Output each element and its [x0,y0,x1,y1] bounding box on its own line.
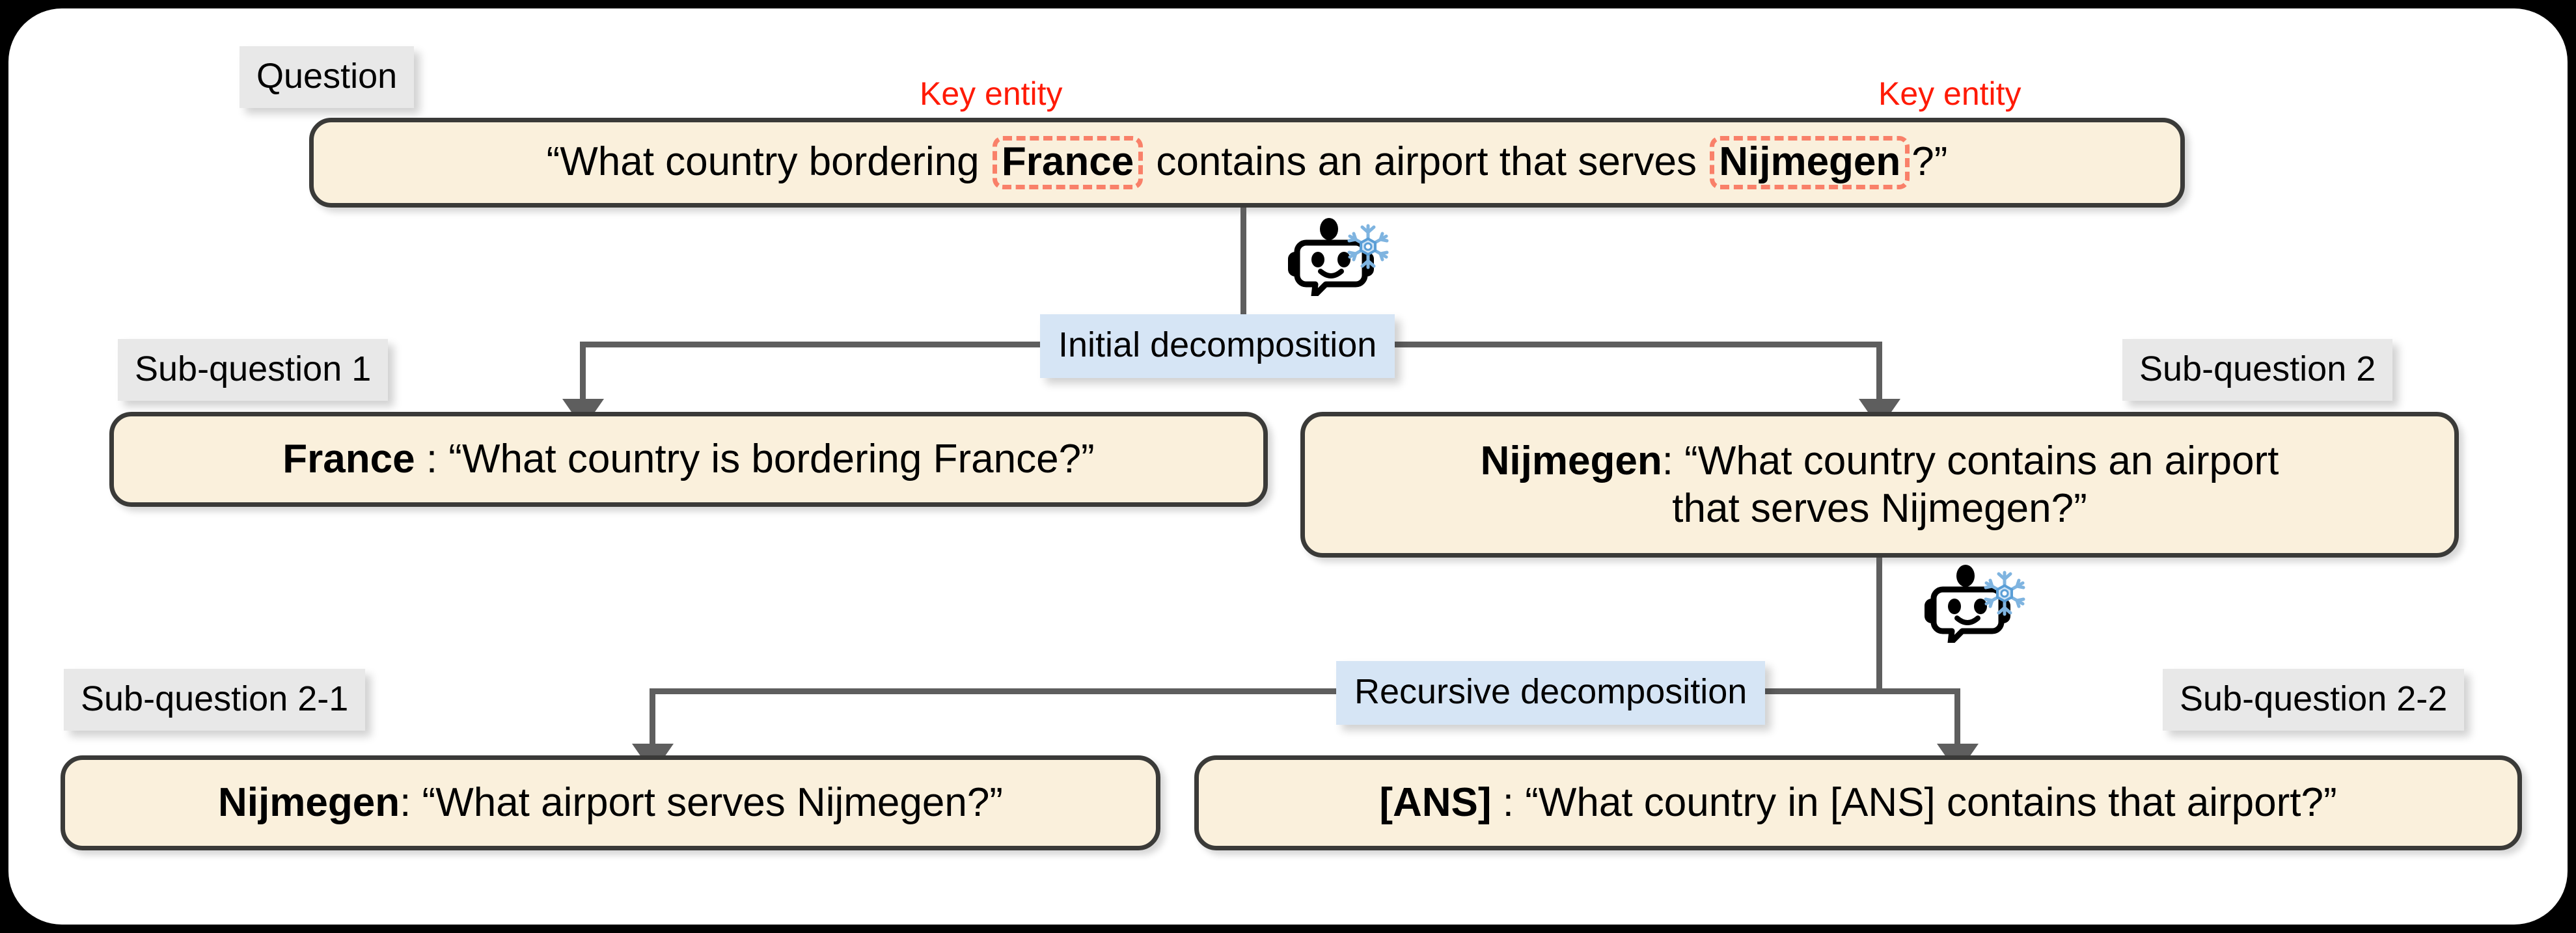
tag-sub-question-2-1: Sub-question 2-1 [64,669,365,731]
connector-row2-right-jog [1876,688,1960,694]
sub-question-2-text: Nijmegen: “What country contains an airp… [1465,437,2295,532]
sub-question-2-2-entity: [ANS] [1379,780,1491,825]
sub-question-2-1-box: Nijmegen: “What airport serves Nijmegen?… [61,755,1160,850]
question-box: “What country bordering France contains … [309,118,2185,208]
sub-question-2-box: Nijmegen: “What country contains an airp… [1300,412,2459,558]
tag-sub-question-2-2: Sub-question 2-2 [2163,669,2464,731]
key-entity-label-left: Key entity [920,77,1063,110]
key-entity-france: France [993,136,1143,189]
sub-question-2-1-entity: Nijmegen [218,780,400,825]
sub-question-2-1-body: : “What airport serves Nijmegen?” [400,780,1003,825]
sub-question-2-line1: : “What country contains an airport [1662,439,2279,483]
key-entity-label-right: Key entity [1878,77,2021,110]
connector-sub2-down [1876,558,1882,690]
question-text: “What country bordering France contains … [531,136,1964,189]
sub-question-1-box: France : “What country is bordering Fran… [109,412,1268,507]
sub-question-1-text: France : “What country is bordering Fran… [267,435,1110,483]
frozen-llm-robot-icon-1 [1285,218,1396,296]
diagram-canvas: Question Key entity Key entity “What cou… [8,8,2568,925]
tag-question: Question [240,46,414,108]
question-middle: contains an airport that serves [1145,139,1708,184]
sub-question-1-body: : “What country is bordering France?” [415,437,1095,481]
frozen-llm-robot-icon-2 [1922,565,2033,643]
tag-sub-question-1: Sub-question 1 [118,339,388,401]
question-suffix: ?” [1911,139,1947,184]
sub-question-2-entity: Nijmegen [1481,439,1662,483]
sub-question-2-2-box: [ANS] : “What country in [ANS] contains … [1194,755,2522,850]
question-prefix: “What country bordering [547,139,991,184]
step-recursive-decomposition: Recursive decomposition [1336,661,1765,725]
sub-question-2-line2: that serves Nijmegen?” [1672,486,2087,531]
sub-question-1-entity: France [282,437,415,481]
key-entity-nijmegen: Nijmegen [1710,136,1910,189]
sub-question-2-1-text: Nijmegen: “What airport serves Nijmegen?… [202,779,1019,826]
sub-question-2-2-body: : “What country in [ANS] contains that a… [1492,780,2337,825]
tag-sub-question-2: Sub-question 2 [2122,339,2392,401]
sub-question-2-2-text: [ANS] : “What country in [ANS] contains … [1363,779,2352,826]
step-initial-decomposition: Initial decomposition [1040,314,1395,378]
